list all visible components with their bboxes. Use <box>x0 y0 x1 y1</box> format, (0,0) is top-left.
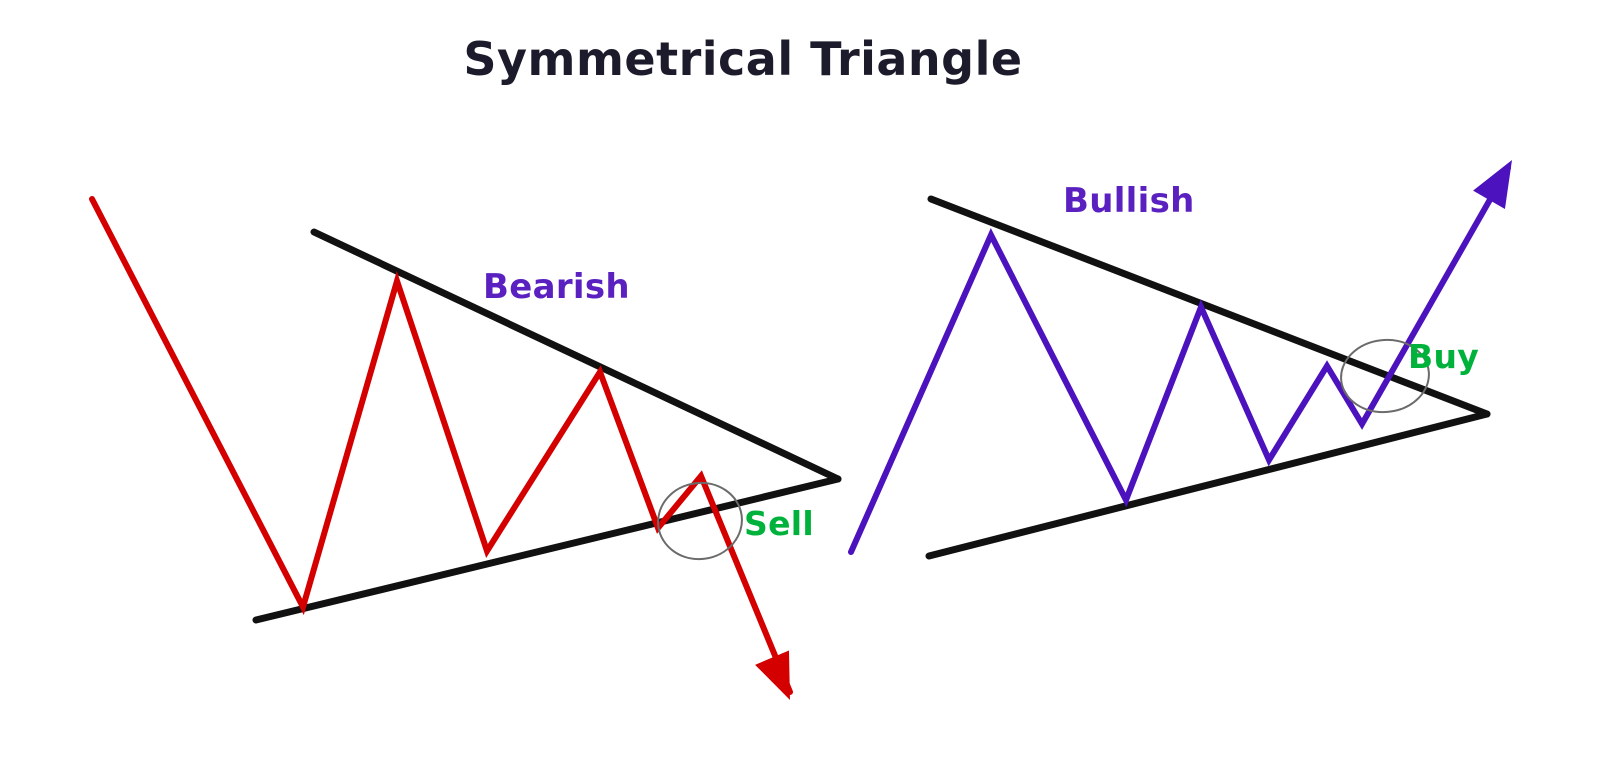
bullish-label: Bullish <box>1063 181 1195 221</box>
sell-label: Sell <box>744 504 814 543</box>
diagram-root: Symmetrical Triangle Bearish Sell Bullis… <box>0 0 1611 759</box>
symmetrical-triangle-diagram: Symmetrical Triangle Bearish Sell Bullis… <box>0 0 1611 759</box>
page-title: Symmetrical Triangle <box>463 32 1022 86</box>
bearish-label: Bearish <box>483 267 630 307</box>
canvas-background <box>0 0 1611 759</box>
buy-label: Buy <box>1408 337 1479 376</box>
